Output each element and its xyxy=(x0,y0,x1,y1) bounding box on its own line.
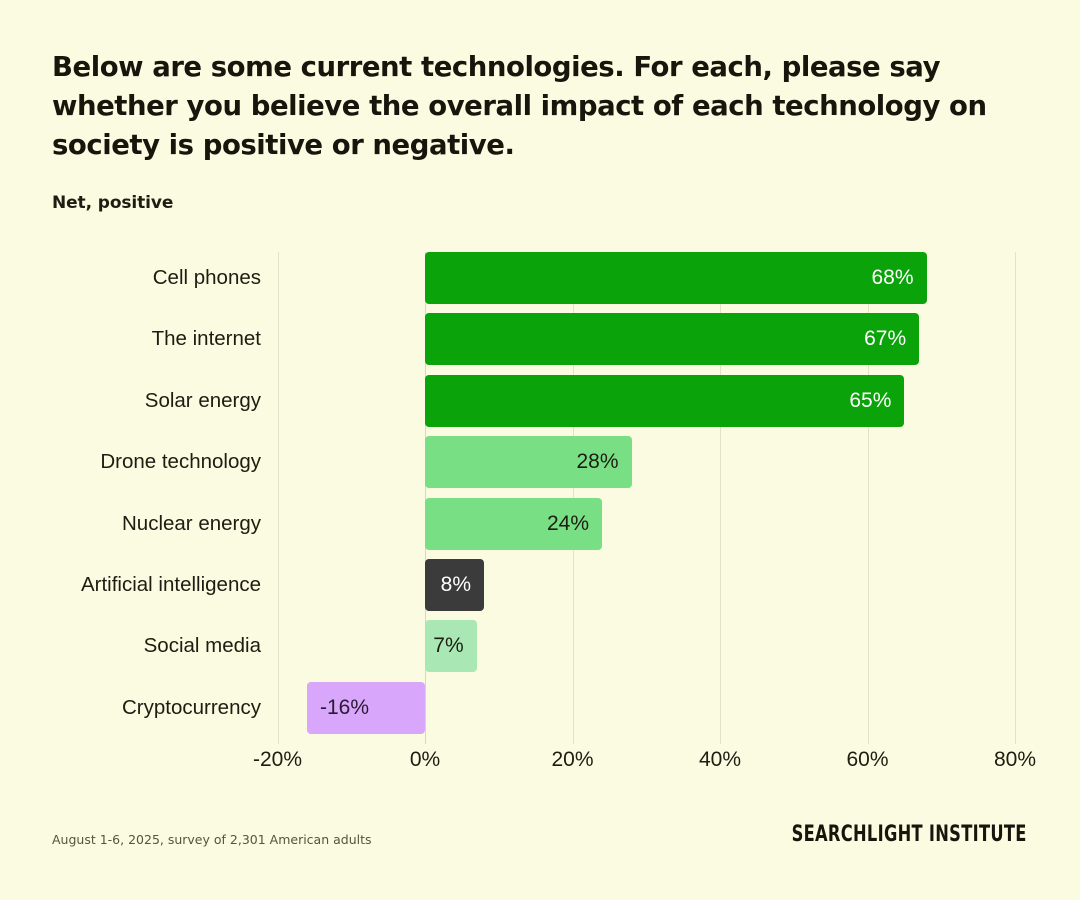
x-tick-label: 40% xyxy=(699,748,741,772)
bar-row: Nuclear energy24% xyxy=(0,498,1080,560)
source-note: August 1-6, 2025, survey of 2,301 Americ… xyxy=(52,832,372,847)
bar-series: Cell phones68%The internet67%Solar energ… xyxy=(0,252,1080,744)
category-label: Cell phones xyxy=(153,252,261,304)
bar-row: Cryptocurrency-16% xyxy=(0,682,1080,744)
bar-row: The internet67% xyxy=(0,313,1080,375)
x-tick-label: 80% xyxy=(994,748,1036,772)
bar-value-label: -16% xyxy=(320,682,369,734)
bar[interactable] xyxy=(425,313,919,365)
category-label: The internet xyxy=(152,313,261,365)
category-label: Nuclear energy xyxy=(122,498,261,550)
bar-row: Cell phones68% xyxy=(0,252,1080,314)
bar-value-label: 7% xyxy=(433,620,463,672)
category-label: Drone technology xyxy=(100,436,261,488)
bar-row: Drone technology28% xyxy=(0,436,1080,498)
bar[interactable] xyxy=(425,375,904,427)
plot-area: Cell phones68%The internet67%Solar energ… xyxy=(0,252,1080,744)
category-label: Artificial intelligence xyxy=(81,559,261,611)
bar[interactable] xyxy=(425,252,927,304)
category-label: Social media xyxy=(144,620,261,672)
bar-value-label: 28% xyxy=(576,436,618,488)
bar-row: Solar energy65% xyxy=(0,375,1080,437)
x-axis: -20%0%20%40%60%80% xyxy=(0,748,1080,778)
bar-value-label: 67% xyxy=(864,313,906,365)
x-tick-label: 20% xyxy=(551,748,593,772)
brand-logo: SEARCHLIGHT INSTITUTE xyxy=(792,822,1027,847)
bar-value-label: 8% xyxy=(441,559,471,611)
bar-value-label: 68% xyxy=(871,252,913,304)
page-title: Below are some current technologies. For… xyxy=(52,48,1037,165)
bar-value-label: 65% xyxy=(849,375,891,427)
chart-page: Below are some current technologies. For… xyxy=(0,0,1080,900)
category-label: Cryptocurrency xyxy=(122,682,261,734)
chart-subtitle: Net, positive xyxy=(52,165,1037,213)
x-tick-label: -20% xyxy=(253,748,302,772)
x-tick-label: 60% xyxy=(846,748,888,772)
x-tick-label: 0% xyxy=(410,748,440,772)
bar-row: Social media7% xyxy=(0,620,1080,682)
bar-row: Artificial intelligence8% xyxy=(0,559,1080,621)
chart-header: Below are some current technologies. For… xyxy=(52,48,1037,213)
category-label: Solar energy xyxy=(145,375,261,427)
bar-value-label: 24% xyxy=(547,498,589,550)
chart-footer: August 1-6, 2025, survey of 2,301 Americ… xyxy=(52,830,1027,860)
